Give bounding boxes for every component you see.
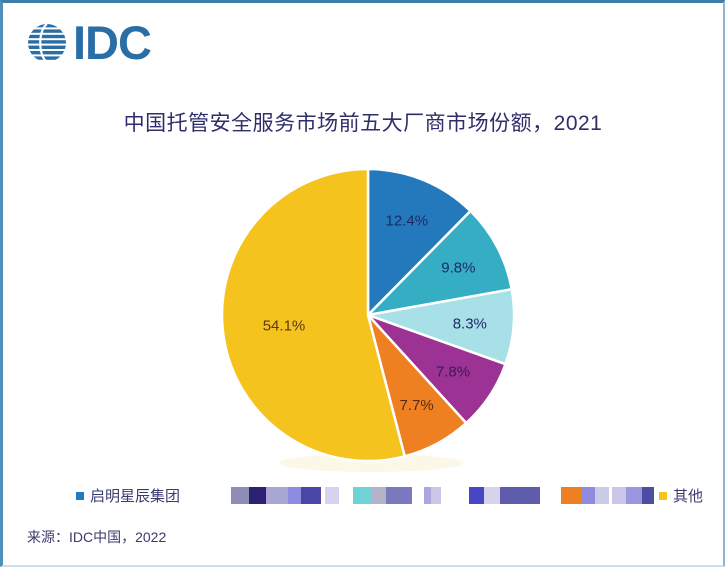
mosaic-cell bbox=[231, 487, 249, 504]
mosaic-cell bbox=[353, 487, 371, 504]
legend-swatch-qiminxingchen bbox=[76, 492, 84, 500]
redacted-legend-block-5 bbox=[431, 487, 441, 504]
pie-slice-label: 54.1% bbox=[263, 318, 306, 335]
legend-label-qiminxingchen: 启明星辰集团 bbox=[90, 485, 180, 506]
legend-label-other: 其他 bbox=[673, 485, 703, 506]
idc-globe-icon bbox=[25, 21, 69, 65]
mosaic-cell bbox=[371, 487, 386, 504]
redacted-legend-block-1 bbox=[231, 487, 321, 504]
mosaic-cell bbox=[561, 487, 581, 504]
redacted-legend-block-7 bbox=[561, 487, 609, 504]
mosaic-cell bbox=[325, 487, 339, 504]
redacted-legend-block-8 bbox=[612, 487, 654, 504]
mosaic-cell bbox=[386, 487, 412, 504]
pie-slice-label: 7.8% bbox=[436, 364, 470, 381]
mosaic-cell bbox=[288, 487, 301, 504]
legend-item-other[interactable]: 其他 bbox=[659, 485, 703, 506]
mosaic-cell bbox=[500, 487, 540, 504]
mosaic-cell bbox=[581, 487, 595, 504]
chart-screenshot-frame: IDC 中国托管安全服务市场前五大厂商市场份额，2021 12.4%9.8%8.… bbox=[0, 0, 725, 567]
source-note: 来源：IDC中国，2022 bbox=[27, 527, 166, 547]
mosaic-cell bbox=[249, 487, 266, 504]
mosaic-cell bbox=[595, 487, 609, 504]
mosaic-cell bbox=[469, 487, 484, 504]
mosaic-cell bbox=[642, 487, 654, 504]
mosaic-cell bbox=[484, 487, 500, 504]
redacted-legend-block-2 bbox=[325, 487, 339, 504]
legend-item-qiminxingchen[interactable]: 启明星辰集团 bbox=[76, 485, 180, 506]
pie-slice-label: 9.8% bbox=[441, 259, 475, 276]
idc-logo-text: IDC bbox=[73, 19, 151, 66]
pie-slice-label: 8.3% bbox=[453, 316, 487, 333]
pie-chart: 12.4%9.8%8.3%7.8%7.7%54.1% bbox=[221, 163, 521, 475]
redacted-legend-block-3 bbox=[353, 487, 412, 504]
pie-slice-label: 7.7% bbox=[399, 397, 433, 414]
pie-chart-svg: 12.4%9.8%8.3%7.8%7.7%54.1% bbox=[221, 163, 521, 475]
legend-swatch-other bbox=[659, 492, 667, 500]
mosaic-cell bbox=[612, 487, 626, 504]
mosaic-cell bbox=[266, 487, 288, 504]
mosaic-cell bbox=[626, 487, 642, 504]
redacted-legend-block-6 bbox=[469, 487, 540, 504]
chart-title: 中国托管安全服务市场前五大厂商市场份额，2021 bbox=[3, 107, 723, 137]
idc-logo: IDC bbox=[25, 19, 151, 66]
pie-slice-label: 12.4% bbox=[386, 212, 429, 229]
mosaic-cell bbox=[431, 487, 441, 504]
chart-legend: 启明星辰集团 bbox=[3, 485, 723, 511]
mosaic-cell bbox=[301, 487, 321, 504]
